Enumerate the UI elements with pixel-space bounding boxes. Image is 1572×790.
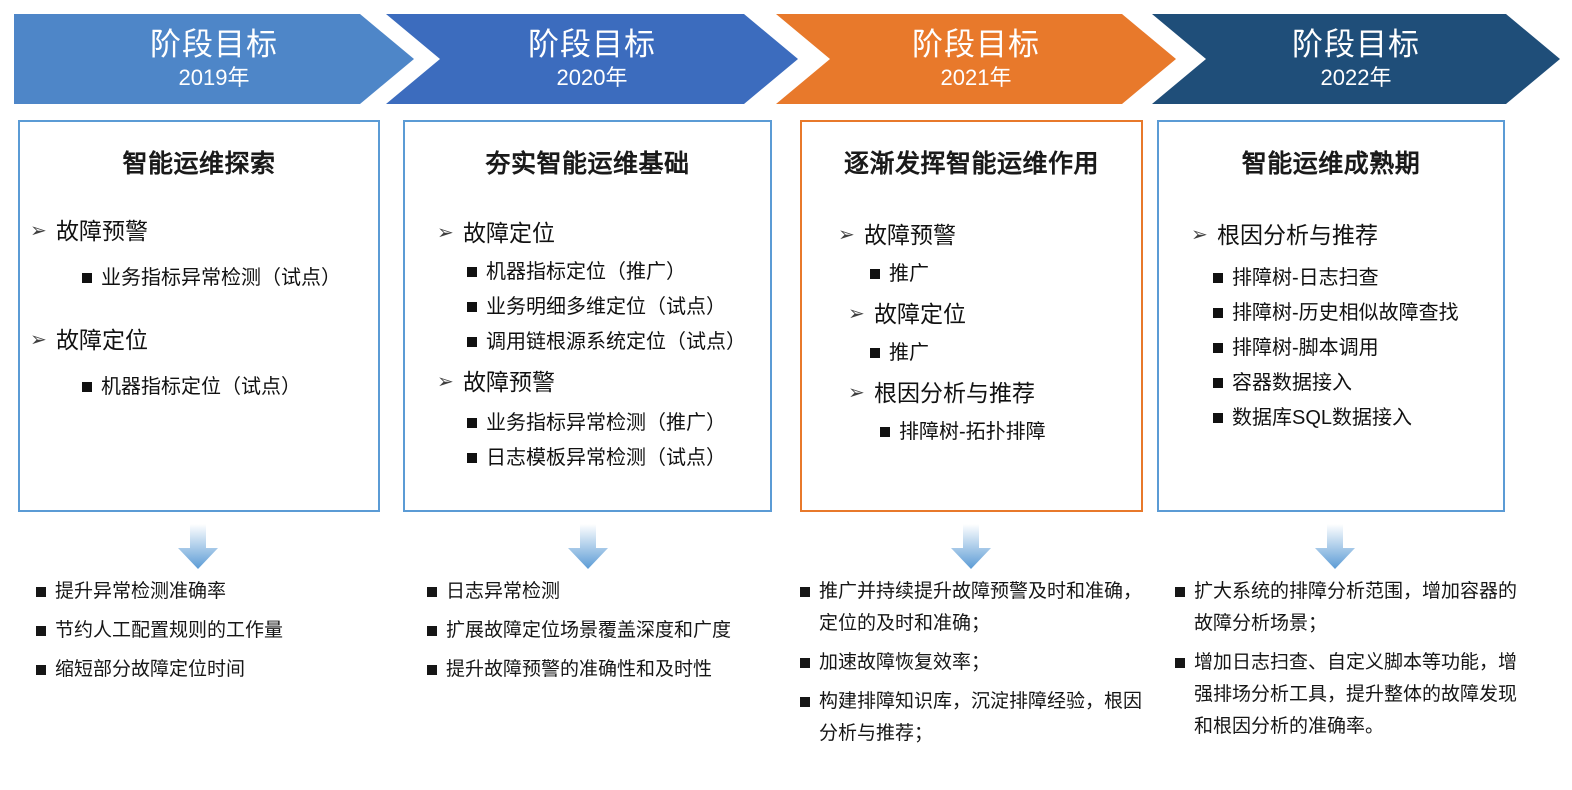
outcome-item: 增加日志扫查、自定义脚本等功能，增强排场分析工具，提升整体的故障发现和根因分析的… <box>1175 647 1533 743</box>
card-title: 逐渐发挥智能运维作用 <box>802 144 1141 180</box>
arrow-bullet-icon: ➢ <box>30 323 56 357</box>
arrow-bullet-icon: ➢ <box>30 214 56 248</box>
list-item-label: 故障定位 <box>463 216 555 250</box>
square-bullet-icon <box>467 453 477 463</box>
card-item-list: ➢ 故障预警 推广 ➢ 故障定位 推广 ➢ 根因分析与推荐 排障树-拓扑排障 <box>802 218 1141 449</box>
list-item-level2: 排障树-日志扫查 <box>1213 262 1493 295</box>
list-item-label: 机器指标定位（试点） <box>101 371 301 404</box>
card-title: 夯实智能运维基础 <box>405 144 770 180</box>
list-item-label: 业务指标异常检测（推广） <box>486 407 726 440</box>
square-bullet-icon <box>36 626 46 636</box>
square-bullet-icon <box>467 337 477 347</box>
banner-year: 2020年 <box>557 65 628 91</box>
list-item-level2: 推广 <box>870 337 1131 370</box>
list-item-level2: 数据库SQL数据接入 <box>1213 402 1493 435</box>
list-item-label: 推广 <box>889 258 929 291</box>
square-bullet-icon <box>1213 343 1223 353</box>
outcome-label: 缩短部分故障定位时间 <box>55 654 245 686</box>
arrow-bullet-icon: ➢ <box>437 216 463 250</box>
phase-banner-2019: 阶段目标 2019年 <box>14 14 414 104</box>
phase-card-2022: 智能运维成熟期 ➢ 根因分析与推荐 排障树-日志扫查 排障树-历史相似故障查找 … <box>1157 120 1505 512</box>
list-item-label: 业务明细多维定位（试点） <box>486 291 726 324</box>
phase-banner-2020: 阶段目标 2020年 <box>386 14 798 104</box>
outcome-label: 扩大系统的排障分析范围，增加容器的故障分析场景； <box>1194 576 1533 640</box>
banner-title: 阶段目标 <box>528 27 656 63</box>
list-item-level2: 调用链根源系统定位（试点） <box>467 326 760 359</box>
list-item-level1: ➢ 根因分析与推荐 <box>1191 218 1493 252</box>
arrow-bullet-icon: ➢ <box>838 218 864 252</box>
outcome-label: 节约人工配置规则的工作量 <box>55 615 283 647</box>
outcome-item: 提升故障预警的准确性和及时性 <box>427 654 779 686</box>
list-item-label: 排障树-日志扫查 <box>1232 262 1379 295</box>
card-item-list: ➢ 故障预警 业务指标异常检测（试点） ➢ 故障定位 机器指标定位（试点） <box>20 214 378 404</box>
list-item-level2: 容器数据接入 <box>1213 367 1493 400</box>
square-bullet-icon <box>1175 658 1185 668</box>
outcome-item: 日志异常检测 <box>427 576 779 608</box>
list-item-label: 业务指标异常检测（试点） <box>101 262 341 295</box>
outcome-item: 扩大系统的排障分析范围，增加容器的故障分析场景； <box>1175 576 1533 640</box>
phase-card-2021: 逐渐发挥智能运维作用 ➢ 故障预警 推广 ➢ 故障定位 推广 ➢ 根因分析与推荐 <box>800 120 1143 512</box>
outcome-list-2019: 提升异常检测准确率 节约人工配置规则的工作量 缩短部分故障定位时间 <box>36 576 386 693</box>
list-item-level2: 机器指标定位（试点） <box>82 371 368 404</box>
list-item-level1: ➢ 故障定位 <box>30 323 368 357</box>
list-item-level2: 业务指标异常检测（推广） <box>467 407 760 440</box>
outcome-list-2020: 日志异常检测 扩展故障定位场景覆盖深度和广度 提升故障预警的准确性和及时性 <box>427 576 779 693</box>
square-bullet-icon <box>1213 378 1223 388</box>
list-item-label: 容器数据接入 <box>1232 367 1352 400</box>
outcome-label: 推广并持续提升故障预警及时和准确，定位的及时和准确； <box>819 576 1145 640</box>
list-item-level2: 排障树-脚本调用 <box>1213 332 1493 365</box>
outcome-item: 提升异常检测准确率 <box>36 576 386 608</box>
banner-title: 阶段目标 <box>1292 27 1420 63</box>
square-bullet-icon <box>1213 308 1223 318</box>
list-item-label: 故障定位 <box>56 323 148 357</box>
list-item-level2: 业务明细多维定位（试点） <box>467 291 760 324</box>
list-item-level1: ➢ 故障定位 <box>848 297 1131 331</box>
list-item-label: 故障预警 <box>56 214 148 248</box>
square-bullet-icon <box>1213 413 1223 423</box>
list-item-level1: ➢ 故障预警 <box>437 365 760 399</box>
outcome-label: 日志异常检测 <box>446 576 560 608</box>
arrow-bullet-icon: ➢ <box>848 297 874 331</box>
card-title: 智能运维成熟期 <box>1159 144 1503 180</box>
square-bullet-icon <box>427 626 437 636</box>
list-item-label: 故障定位 <box>874 297 966 331</box>
banner-title: 阶段目标 <box>912 27 1040 63</box>
card-item-list: ➢ 根因分析与推荐 排障树-日志扫查 排障树-历史相似故障查找 排障树-脚本调用… <box>1159 218 1503 435</box>
square-bullet-icon <box>82 273 92 283</box>
square-bullet-icon <box>36 587 46 597</box>
outcome-list-2022: 扩大系统的排障分析范围，增加容器的故障分析场景； 增加日志扫查、自定义脚本等功能… <box>1175 576 1533 750</box>
roadmap-diagram: 阶段目标 2019年 阶段目标 2020年 阶段目标 2021年 阶段目标 20… <box>0 0 1572 790</box>
down-arrow-icon <box>949 524 993 570</box>
outcome-item: 节约人工配置规则的工作量 <box>36 615 386 647</box>
down-arrow-icon <box>1313 524 1357 570</box>
list-item-label: 排障树-历史相似故障查找 <box>1232 297 1459 330</box>
square-bullet-icon <box>880 427 890 437</box>
phase-card-2020: 夯实智能运维基础 ➢ 故障定位 机器指标定位（推广） 业务明细多维定位（试点） … <box>403 120 772 512</box>
list-item-label: 调用链根源系统定位（试点） <box>486 326 746 359</box>
square-bullet-icon <box>1175 587 1185 597</box>
square-bullet-icon <box>870 269 880 279</box>
outcome-item: 构建排障知识库，沉淀排障经验，根因分析与推荐； <box>800 686 1145 750</box>
square-bullet-icon <box>800 697 810 707</box>
banner-year: 2019年 <box>179 65 250 91</box>
list-item-level2: 机器指标定位（推广） <box>467 256 760 289</box>
square-bullet-icon <box>427 587 437 597</box>
outcome-label: 扩展故障定位场景覆盖深度和广度 <box>446 615 731 647</box>
phase-banner-2021: 阶段目标 2021年 <box>776 14 1176 104</box>
outcome-label: 提升故障预警的准确性和及时性 <box>446 654 712 686</box>
square-bullet-icon <box>427 665 437 675</box>
outcome-label: 加速故障恢复效率； <box>819 647 990 679</box>
banner-title: 阶段目标 <box>150 27 278 63</box>
outcome-item: 推广并持续提升故障预警及时和准确，定位的及时和准确； <box>800 576 1145 640</box>
square-bullet-icon <box>36 665 46 675</box>
list-item-label: 故障预警 <box>463 365 555 399</box>
square-bullet-icon <box>1213 273 1223 283</box>
outcome-label: 提升异常检测准确率 <box>55 576 226 608</box>
outcome-label: 增加日志扫查、自定义脚本等功能，增强排场分析工具，提升整体的故障发现和根因分析的… <box>1194 647 1533 743</box>
outcome-item: 加速故障恢复效率； <box>800 647 1145 679</box>
list-item-level2: 推广 <box>870 258 1131 291</box>
list-item-label: 推广 <box>889 337 929 370</box>
down-arrow-icon <box>176 524 220 570</box>
list-item-level1: ➢ 故障预警 <box>30 214 368 248</box>
square-bullet-icon <box>870 348 880 358</box>
down-arrow-icon <box>566 524 610 570</box>
list-item-label: 根因分析与推荐 <box>874 376 1035 410</box>
card-item-list: ➢ 故障定位 机器指标定位（推广） 业务明细多维定位（试点） 调用链根源系统定位… <box>405 216 770 475</box>
list-item-label: 排障树-脚本调用 <box>1232 332 1379 365</box>
phase-card-2019: 智能运维探索 ➢ 故障预警 业务指标异常检测（试点） ➢ 故障定位 机器指标定位… <box>18 120 380 512</box>
list-item-label: 日志模板异常检测（试点） <box>486 442 726 475</box>
list-item-level2: 业务指标异常检测（试点） <box>82 262 368 295</box>
card-title: 智能运维探索 <box>20 144 378 180</box>
outcome-label: 构建排障知识库，沉淀排障经验，根因分析与推荐； <box>819 686 1145 750</box>
outcome-list-2021: 推广并持续提升故障预警及时和准确，定位的及时和准确； 加速故障恢复效率； 构建排… <box>800 576 1145 757</box>
square-bullet-icon <box>467 418 477 428</box>
outcome-item: 缩短部分故障定位时间 <box>36 654 386 686</box>
list-item-label: 数据库SQL数据接入 <box>1232 402 1412 435</box>
banner-year: 2021年 <box>941 65 1012 91</box>
outcome-item: 扩展故障定位场景覆盖深度和广度 <box>427 615 779 647</box>
list-item-level2: 日志模板异常检测（试点） <box>467 442 760 475</box>
square-bullet-icon <box>800 587 810 597</box>
list-item-level1: ➢ 根因分析与推荐 <box>848 376 1131 410</box>
phase-banner-2022: 阶段目标 2022年 <box>1152 14 1560 104</box>
list-item-label: 故障预警 <box>864 218 956 252</box>
arrow-bullet-icon: ➢ <box>848 376 874 410</box>
arrow-bullet-icon: ➢ <box>1191 218 1217 252</box>
list-item-level2: 排障树-历史相似故障查找 <box>1213 297 1493 330</box>
square-bullet-icon <box>467 302 477 312</box>
list-item-level2: 排障树-拓扑排障 <box>880 416 1131 449</box>
list-item-label: 根因分析与推荐 <box>1217 218 1378 252</box>
arrow-bullet-icon: ➢ <box>437 365 463 399</box>
list-item-level1: ➢ 故障预警 <box>838 218 1131 252</box>
square-bullet-icon <box>82 382 92 392</box>
list-item-level1: ➢ 故障定位 <box>437 216 760 250</box>
banner-year: 2022年 <box>1321 65 1392 91</box>
list-item-label: 排障树-拓扑排障 <box>899 416 1046 449</box>
list-item-label: 机器指标定位（推广） <box>486 256 686 289</box>
square-bullet-icon <box>800 658 810 668</box>
square-bullet-icon <box>467 267 477 277</box>
